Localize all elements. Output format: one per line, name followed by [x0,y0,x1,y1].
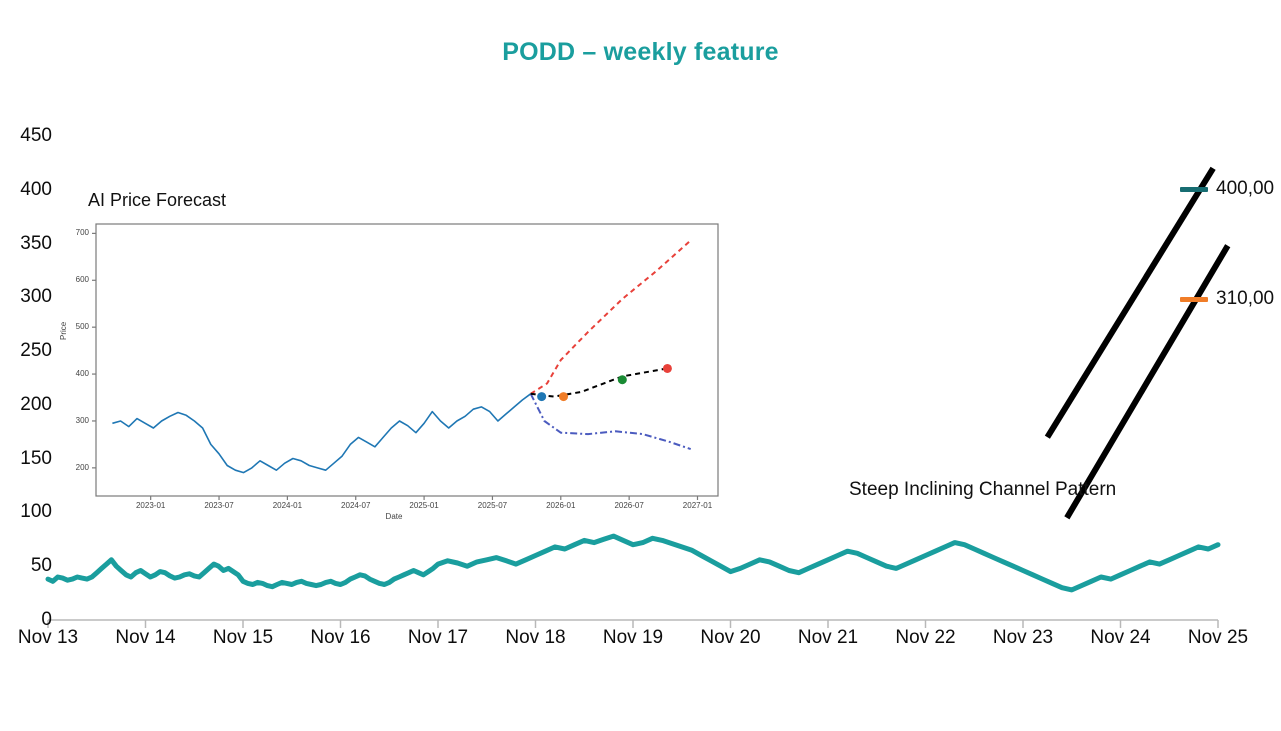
inset-x-tick-label: 2023-07 [189,502,249,510]
inset-y-tick-label: 500 [60,323,89,331]
screenshot-root: PODD – weekly feature 050100150200250300… [0,0,1281,731]
inset-x-tick-label: 2027-01 [667,502,727,510]
inset-x-tick-label: 2024-07 [326,502,386,510]
y-tick-label: 400 [4,180,52,199]
inset-x-tick-label: 2026-07 [599,502,659,510]
x-tick-label: Nov 25 [1163,628,1273,647]
x-tick-label: Nov 23 [968,628,1078,647]
inset-y-tick-label: 700 [60,229,89,237]
legend-label: 310,00 [1216,288,1274,310]
y-tick-label: 100 [4,502,52,521]
x-tick-label: Nov 14 [91,628,201,647]
inset-y-tick-label: 200 [60,464,89,472]
y-tick-label: 200 [4,395,52,414]
inset-y-tick-label: 600 [60,276,89,284]
inset-plot-area [60,190,728,545]
inset-x-tick-label: 2025-07 [462,502,522,510]
pattern-annotation: Steep Inclining Channel Pattern [849,479,1116,501]
y-axis-labels: 050100150200250300350400450 [0,0,52,640]
channel-lower [1067,246,1228,518]
inset-x-tick-label: 2023-01 [121,502,181,510]
y-tick-label: 50 [4,556,52,575]
inset-x-tick-label: 2024-01 [257,502,317,510]
marker-current [537,392,546,401]
marker-target-2 [618,375,627,384]
inset-frame [96,224,718,496]
ai-price-forecast-inset: AI Price Forecast Price Date 20030040050… [60,190,728,545]
y-tick-label: 250 [4,341,52,360]
marker-target-1 [559,392,568,401]
inset-x-tick-label: 2025-01 [394,502,454,510]
x-tick-label: Nov 24 [1066,628,1176,647]
legend-400: 400,00 [1180,178,1274,200]
y-tick-label: 150 [4,449,52,468]
x-tick-label: Nov 17 [383,628,493,647]
legend-label: 400,00 [1216,178,1274,200]
y-tick-label: 450 [4,126,52,145]
y-tick-label: 300 [4,287,52,306]
x-tick-label: Nov 15 [188,628,298,647]
x-tick-label: Nov 16 [286,628,396,647]
x-tick-label: Nov 21 [773,628,883,647]
legend-swatch-icon [1180,297,1208,302]
marker-target-3 [663,364,672,373]
inset-x-tick-label: 2026-01 [531,502,591,510]
x-tick-label: Nov 13 [0,628,103,647]
inset-y-tick-label: 300 [60,417,89,425]
legend-310: 310,00 [1180,288,1274,310]
channel-lines [1047,168,1227,518]
inset-x-axis-label: Date [60,512,728,521]
x-axis-labels: Nov 13Nov 14Nov 15Nov 16Nov 17Nov 18Nov … [0,628,1281,668]
x-tick-label: Nov 19 [578,628,688,647]
legend-swatch-icon [1180,187,1208,192]
inset-y-tick-label: 400 [60,370,89,378]
y-tick-label: 350 [4,234,52,253]
x-tick-label: Nov 22 [871,628,981,647]
x-tick-label: Nov 20 [676,628,786,647]
x-tick-label: Nov 18 [481,628,591,647]
